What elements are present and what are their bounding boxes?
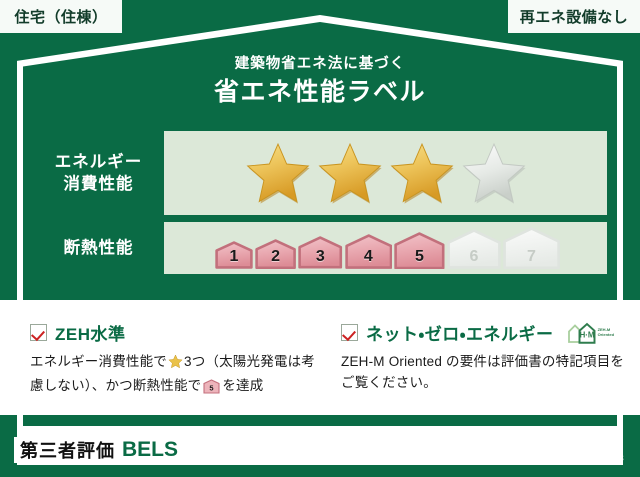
house-5-icon: 5 [203, 379, 220, 401]
star-icon [168, 354, 183, 376]
insulation-level-scale: 1234567 [211, 227, 560, 269]
energy-performance-label: エネルギー 消費性能 [33, 131, 164, 215]
insulation-level-empty: 7 [503, 227, 560, 269]
zeh-m-house-icon: H·M [566, 321, 596, 345]
evaluation-date-label: 評価日 [490, 434, 531, 449]
insulation-level-filled: 1 [215, 241, 253, 269]
badge-renewable-energy: 再エネ設備なし [508, 0, 640, 33]
bels-label-jp: 第三者評価 [20, 437, 115, 463]
notes-section: ZEH水準 エネルギー消費性能で3つ（太陽光発電は考慮しない）、かつ断熱性能で5… [0, 300, 640, 415]
insulation-level-number: 4 [345, 249, 393, 265]
star-filled-icon [244, 141, 312, 205]
insulation-level-filled: 4 [345, 234, 393, 269]
note-zeh-standard-title: ZEH水準 [55, 320, 126, 345]
zeh-m-caption-line2: Oriented [598, 333, 614, 338]
energy-performance-row: エネルギー 消費性能 [33, 131, 607, 215]
insulation-level-filled: 3 [298, 236, 342, 269]
insulation-level-number: 1 [215, 249, 253, 265]
footer-bar: 第三者評価 BELS セゾン箱崎宮前 評価日 2025年6月3日 c4446d2… [0, 415, 640, 477]
note-zeh-standard: ZEH水準 エネルギー消費性能で3つ（太陽光発電は考慮しない）、かつ断熱性能で5… [0, 300, 329, 415]
note-net-zero-energy-body: ZEH-M Oriented の要件は評価書の特記項目をご覧ください。 [341, 352, 626, 394]
star-empty-icon [460, 141, 528, 205]
label-title-block: 建築物省エネ法に基づく 省エネ性能ラベル [0, 56, 640, 107]
bels-label-en: BELS [122, 438, 178, 462]
insulation-level-number: 5 [394, 249, 445, 265]
zeh-m-oriented-logo: H·M ZEH-M Oriented [566, 321, 614, 345]
ratings-area: エネルギー 消費性能 断熱性能 1234567 [33, 131, 607, 281]
note-net-zero-energy-title: ネット・ゼロ・エネルギー [366, 320, 554, 345]
checkbox-checked-icon [341, 324, 358, 341]
energy-label-root: 住宅（住棟） 再エネ設備なし 建築物省エネ法に基づく 省エネ性能ラベル エネルギ… [0, 0, 640, 477]
insulation-level-filled: 2 [255, 239, 296, 269]
energy-performance-label-line2: 消費性能 [55, 173, 143, 195]
badge-building-type: 住宅（住棟） [0, 0, 122, 33]
svg-text:5: 5 [210, 383, 214, 392]
note-text-part1: エネルギー消費性能で [30, 354, 167, 369]
evaluation-info: 評価日 2025年6月3日 c4446d2c-7b9d-46e3 [490, 430, 624, 464]
insulation-level-number: 6 [447, 249, 501, 265]
energy-performance-label-line1: エネルギー [55, 151, 143, 173]
note-zeh-standard-body: エネルギー消費性能で3つ（太陽光発電は考慮しない）、かつ断熱性能で5を達成 [30, 352, 315, 401]
note-text-part3: を達成 [222, 378, 263, 393]
insulation-level-filled: 5 [394, 232, 445, 270]
note-net-zero-energy: ネット・ゼロ・エネルギー H·M ZEH-M Oriented ZEH-M Or… [329, 300, 640, 415]
zeh-m-logo-text: H·M [579, 330, 594, 339]
page-title: 省エネ性能ラベル [0, 79, 640, 107]
insulation-level-number: 3 [298, 249, 342, 265]
energy-star-rating [164, 131, 607, 215]
building-name: セゾン箱崎宮前 [210, 442, 301, 461]
star-filled-icon [388, 141, 456, 205]
evaluation-date-value: 2025年6月3日 [536, 434, 624, 449]
insulation-performance-label: 断熱性能 [33, 222, 164, 274]
insulation-level-number: 7 [503, 249, 560, 265]
insulation-level-empty: 6 [447, 229, 501, 269]
checkbox-checked-icon [30, 324, 47, 341]
evaluation-id: c4446d2c-7b9d-46e3 [490, 453, 624, 464]
insulation-performance-row: 断熱性能 1234567 [33, 222, 607, 274]
insulation-level-number: 2 [255, 249, 296, 265]
star-filled-icon [316, 141, 384, 205]
bels-badge: 第三者評価 BELS [14, 437, 184, 463]
title-subtitle: 建築物省エネ法に基づく [0, 56, 640, 73]
